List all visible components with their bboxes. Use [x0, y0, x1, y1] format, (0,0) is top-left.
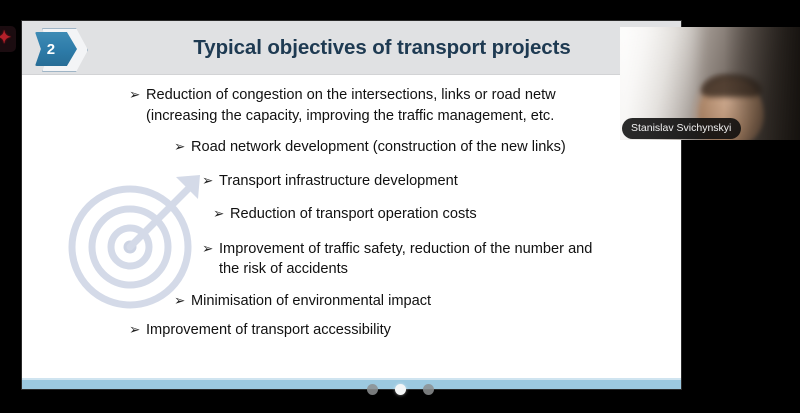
pagination-dot-1[interactable]: [367, 384, 378, 395]
page-title: Typical objectives of transport projects: [112, 21, 652, 75]
list-item-text: Improvement of transport accessibility: [146, 320, 665, 341]
list-item: ➢ Road network development (construction…: [22, 137, 681, 158]
app-icon[interactable]: ✦: [0, 26, 16, 52]
list-item: ➢ Improvement of transport accessibility: [22, 320, 681, 341]
bullet-arrow-icon: ➢: [213, 204, 230, 225]
list-item-text: Minimisation of environmental impact: [191, 291, 665, 312]
slide-number-badge: 2: [32, 26, 94, 72]
slide-number-text: 2: [35, 32, 67, 66]
list-item-line: (increasing the capacity, improving the …: [146, 108, 554, 124]
participant-video-tile[interactable]: Stanislav Svichynskyi: [620, 27, 800, 140]
list-item-line: Improvement of traffic safety, reduction…: [219, 241, 592, 257]
list-item-text: Reduction of transport operation costs: [230, 204, 665, 225]
list-item-line: the risk of accidents: [219, 261, 348, 277]
list-item: ➢ Reduction of congestion on the interse…: [22, 85, 681, 126]
bullet-arrow-icon: ➢: [174, 137, 191, 158]
list-item-text: Road network development (construction o…: [191, 137, 665, 158]
list-item: ➢ Transport infrastructure development: [22, 171, 681, 192]
list-item-line: Reduction of congestion on the intersect…: [146, 87, 556, 103]
participant-name-label: Stanislav Svichynskyi: [622, 118, 741, 139]
app-icon-glyph: ✦: [0, 29, 13, 47]
pagination-dot-3[interactable]: [423, 384, 434, 395]
bullet-arrow-icon: ➢: [174, 291, 191, 312]
list-item-text: Improvement of traffic safety, reduction…: [219, 239, 665, 280]
list-item: ➢ Minimisation of environmental impact: [22, 291, 681, 312]
slide-body-bullets: ➢ Reduction of congestion on the interse…: [22, 83, 681, 349]
list-item: ➢ Improvement of traffic safety, reducti…: [22, 239, 681, 280]
bullet-arrow-icon: ➢: [202, 239, 219, 260]
pagination-dots[interactable]: [0, 382, 800, 396]
list-item-text: Transport infrastructure development: [219, 171, 665, 192]
bullet-arrow-icon: ➢: [129, 85, 146, 106]
bullet-arrow-icon: ➢: [202, 171, 219, 192]
presentation-slide[interactable]: 2 Typical objectives of transport projec…: [22, 21, 681, 389]
pagination-dot-2[interactable]: [395, 384, 406, 395]
bullet-arrow-icon: ➢: [129, 320, 146, 341]
list-item-text: Reduction of congestion on the intersect…: [146, 85, 665, 126]
list-item: ➢ Reduction of transport operation costs: [22, 204, 681, 225]
